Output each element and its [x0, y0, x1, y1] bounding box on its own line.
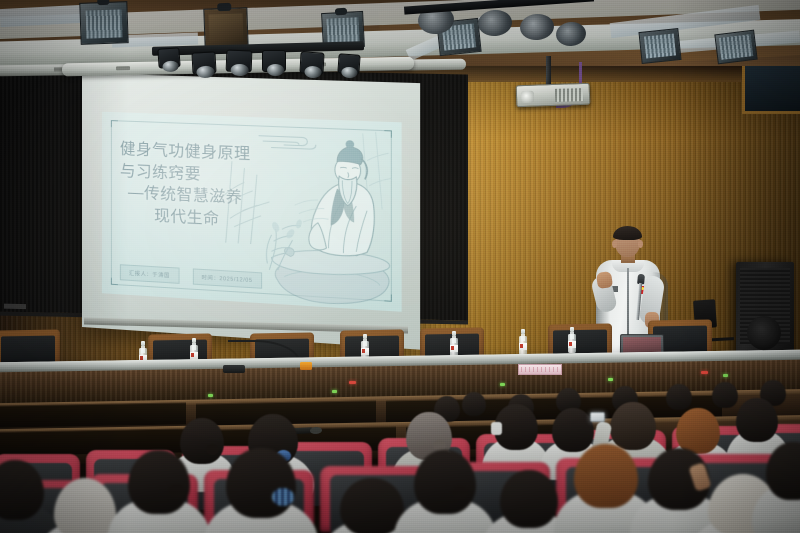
audience-member [414, 450, 476, 514]
audience-member [574, 444, 638, 508]
recessed-light-panel [203, 7, 248, 49]
stage-par-light [337, 53, 360, 74]
audience-member [226, 448, 296, 518]
curtain-tag [4, 304, 26, 309]
presenter-hair [613, 226, 642, 240]
audience-member-with-phone [610, 402, 656, 450]
stage-par-light [262, 50, 286, 72]
stage-wash-light [519, 13, 555, 42]
water-bottle [450, 331, 458, 357]
upper-right-window [742, 66, 800, 114]
speaker-woofer [747, 316, 781, 350]
stage-par-light [157, 47, 180, 68]
recessed-light-panel [714, 30, 757, 65]
stage-wash-light [477, 9, 513, 38]
audience-near-row: 12 [0, 452, 800, 533]
desk-microphone [213, 357, 251, 373]
projector-lens [521, 91, 534, 103]
recessed-light-panel [638, 28, 681, 64]
stage-par-light [191, 51, 216, 74]
water-bottle [568, 327, 576, 353]
audience-member [494, 404, 538, 450]
auditorium-photo: 健身气功健身原理 与习练窍要 —传统智慧滋养 现代生命 汇报人：于涛国 时间：2… [0, 0, 800, 533]
smartphone[interactable] [590, 412, 605, 422]
audience-member [500, 470, 558, 528]
status-led-red [701, 371, 708, 374]
recessed-light-panel [79, 1, 128, 45]
projection-screen: 健身气功健身原理 与习练窍要 —传统智慧滋养 现代生命 汇报人：于涛国 时间：2… [82, 73, 420, 350]
audience-member [128, 450, 190, 514]
ceiling-projector [516, 83, 591, 108]
audience-member [766, 442, 800, 500]
projector-vent [555, 88, 583, 102]
screen-projection-glow [82, 73, 420, 350]
stage-par-light [226, 50, 253, 73]
status-led-green [723, 374, 728, 377]
audience-member-with-cap [54, 478, 116, 533]
audience-member [340, 478, 404, 533]
orange-object [300, 362, 312, 370]
stage-par-light [299, 51, 324, 74]
name-card [518, 364, 562, 375]
water-bottle [519, 329, 527, 355]
audience-member [736, 398, 778, 442]
projector-mount-pole [546, 56, 551, 86]
raised-fist [596, 271, 613, 289]
audience-member [0, 460, 44, 520]
audience-member [648, 448, 710, 510]
stage-wash-light [555, 20, 587, 47]
